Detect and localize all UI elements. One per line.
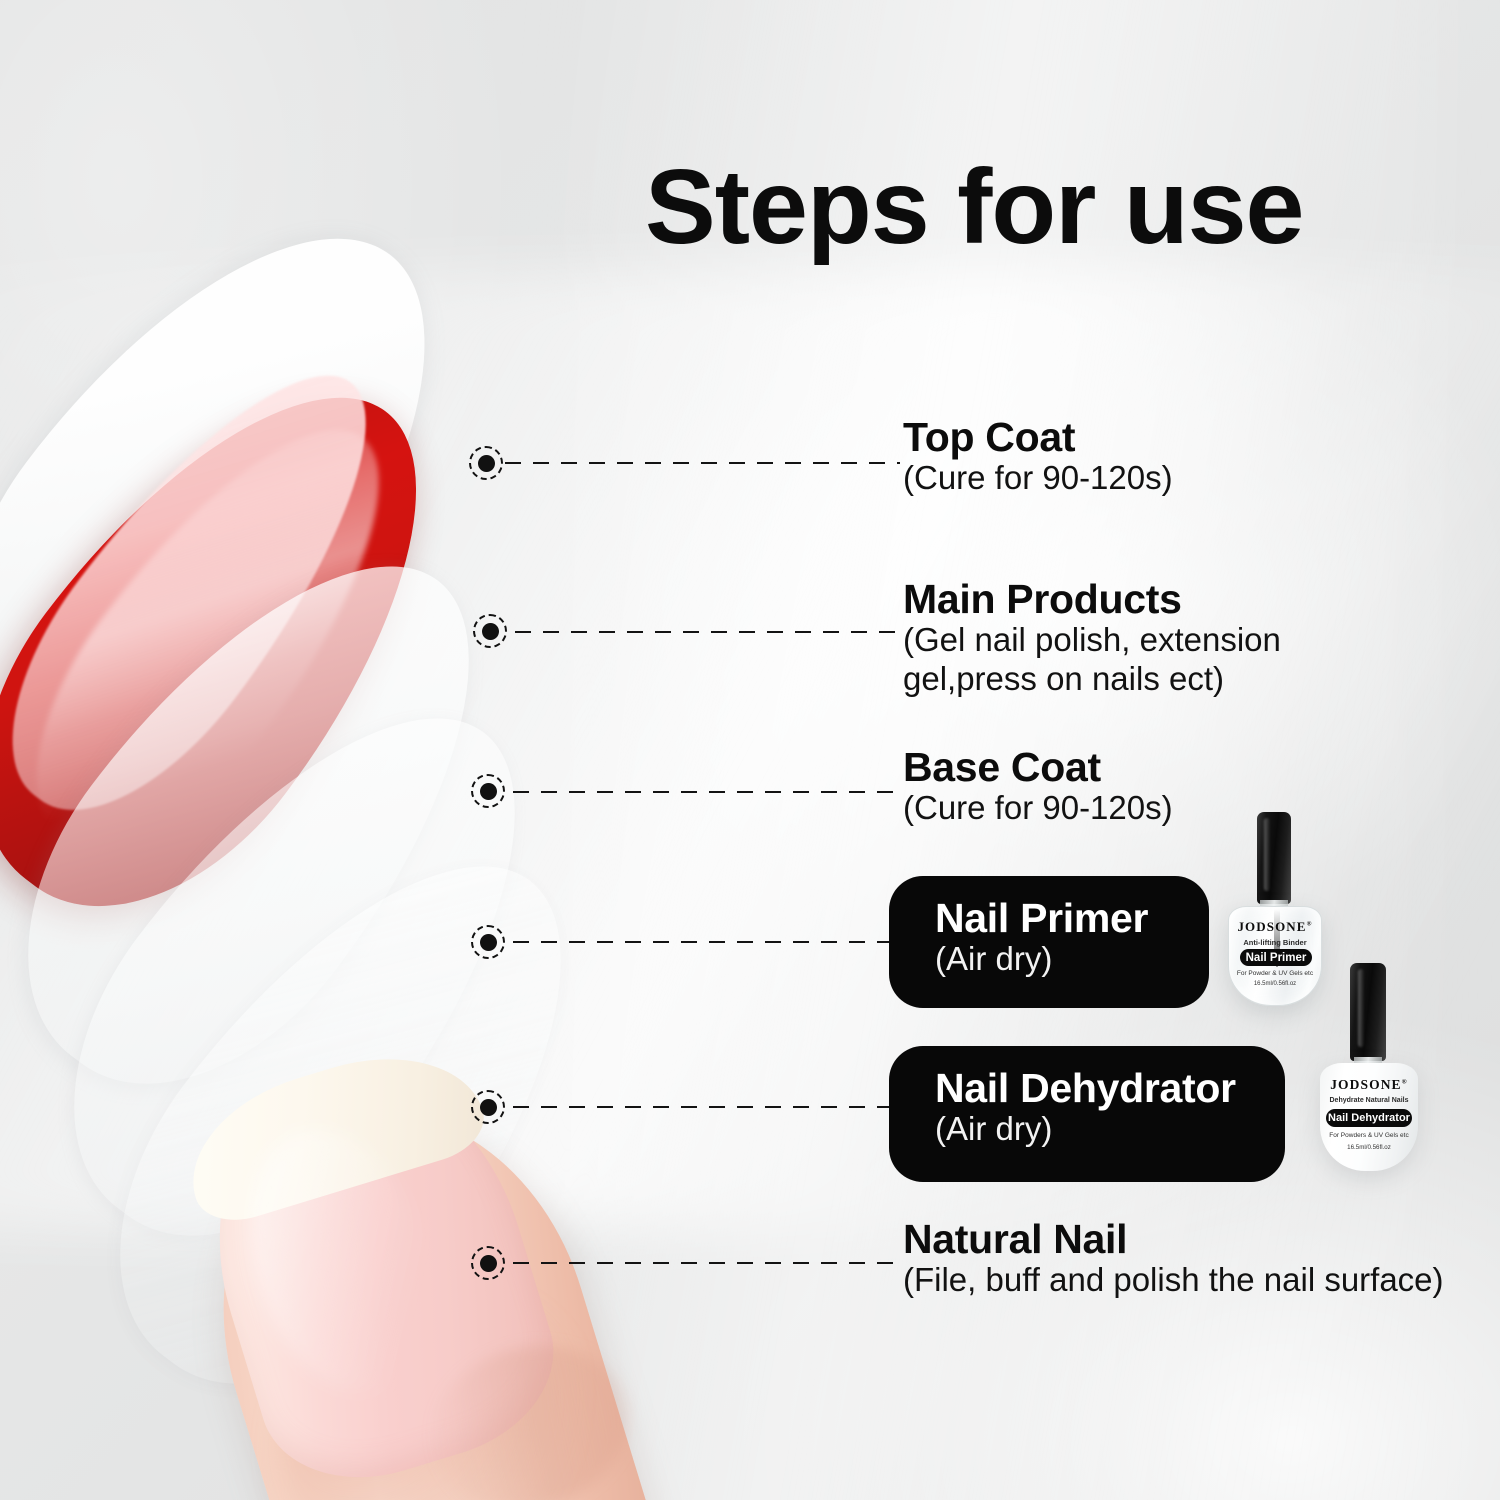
callout-subtitle-natural-nail: (File, buff and polish the nail surface): [903, 1261, 1444, 1300]
connector-line-nail-dehydrator: [513, 1106, 905, 1108]
callout-title-nail-dehydrator: Nail Dehydrator: [935, 1066, 1251, 1110]
marker-dot-nail-dehydrator: [471, 1090, 505, 1124]
callout-subtitle-top-coat: (Cure for 90-120s): [903, 459, 1173, 498]
callout-subtitle2-main-products: gel,press on nails ect): [903, 660, 1281, 699]
dehydrator-brand-text: JODSONE: [1330, 1077, 1401, 1092]
connector-line-nail-primer: [513, 941, 905, 943]
infographic-canvas: Steps for use Top Coat (Cure for 90-120s…: [0, 0, 1500, 1500]
primer-volume-text: 16.5ml/0.56fl.oz: [1229, 981, 1321, 987]
dehydrator-bottle-cap: [1350, 963, 1386, 1061]
dehydrator-cap-gloss: [1358, 969, 1364, 1047]
connector-line-main-products: [515, 631, 900, 633]
callout-top-coat: Top Coat (Cure for 90-120s): [903, 415, 1173, 498]
dehydrator-usage-text: For Powders & UV Gels etc: [1320, 1132, 1418, 1139]
callout-title-natural-nail: Natural Nail: [903, 1217, 1444, 1261]
connector-line-top-coat: [505, 462, 900, 464]
callout-subtitle-base-coat: (Cure for 90-120s): [903, 789, 1173, 828]
callout-title-base-coat: Base Coat: [903, 745, 1173, 789]
connector-line-natural-nail: [513, 1262, 903, 1264]
callout-main-products: Main Products (Gel nail polish, extensio…: [903, 577, 1281, 699]
callout-subtitle-main-products: (Gel nail polish, extension: [903, 621, 1281, 660]
callout-subtitle-nail-primer: (Air dry): [935, 940, 1175, 979]
page-title: Steps for use: [645, 152, 1365, 263]
dehydrator-brand-mark: ®: [1402, 1079, 1408, 1086]
primer-bottle-body: JODSONE® Anti-lifting Binder Nail Primer…: [1228, 906, 1322, 1006]
primer-tagline: Anti-lifting Binder: [1229, 938, 1321, 947]
marker-dot-natural-nail: [471, 1246, 505, 1280]
callout-base-coat: Base Coat (Cure for 90-120s): [903, 745, 1173, 828]
primer-usage-text: For Powder & UV Gels etc: [1229, 970, 1321, 977]
dehydrator-tagline: Dehydrate Natural Nails: [1320, 1097, 1418, 1104]
dehydrator-bottle-body: JODSONE® Dehydrate Natural Nails Nail De…: [1320, 1063, 1418, 1171]
primer-bottle-cap: [1257, 812, 1291, 904]
callout-subtitle-nail-dehydrator: (Air dry): [935, 1110, 1251, 1149]
dehydrator-brand-name: JODSONE®: [1320, 1077, 1418, 1093]
callout-nail-primer: Nail Primer (Air dry): [889, 876, 1209, 1008]
product-bottle-nail-dehydrator: JODSONE® Dehydrate Natural Nails Nail De…: [1310, 963, 1436, 1178]
callout-nail-dehydrator: Nail Dehydrator (Air dry): [889, 1046, 1285, 1182]
primer-cap-gloss: [1264, 818, 1269, 892]
connector-line-base-coat: [513, 791, 901, 793]
primer-brand-name: JODSONE®: [1229, 919, 1321, 935]
callout-natural-nail: Natural Nail (File, buff and polish the …: [903, 1217, 1444, 1300]
marker-dot-base-coat: [471, 774, 505, 808]
dehydrator-product-name: Nail Dehydrator: [1326, 1109, 1412, 1127]
marker-dot-top-coat: [469, 446, 503, 480]
callout-title-top-coat: Top Coat: [903, 415, 1173, 459]
callout-title-main-products: Main Products: [903, 577, 1281, 621]
marker-dot-main-products: [473, 614, 507, 648]
primer-brand-text: JODSONE: [1237, 919, 1306, 934]
marker-dot-nail-primer: [471, 925, 505, 959]
primer-product-name: Nail Primer: [1240, 949, 1312, 966]
primer-brand-mark: ®: [1307, 921, 1313, 928]
dehydrator-volume-text: 16.5ml/0.56fl.oz: [1320, 1144, 1418, 1151]
callout-title-nail-primer: Nail Primer: [935, 896, 1175, 940]
